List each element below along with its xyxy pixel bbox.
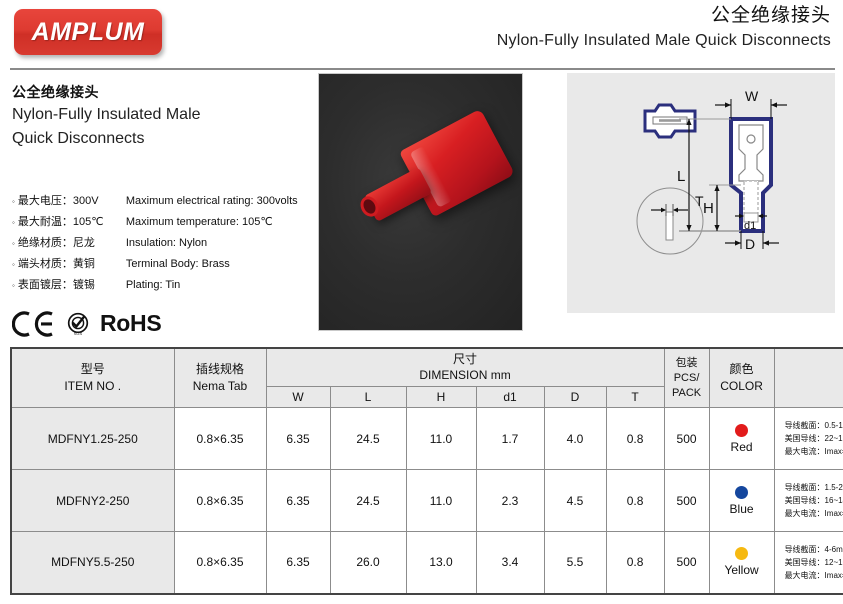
col-header-item-no-cn: 型号 [14, 361, 172, 378]
ul-certification-icon: SGS [65, 311, 91, 337]
explanation-chinese: 导线截面：1.5-2.5mm² 美国导线：16~14 最大电流：Imax=15A [785, 481, 843, 521]
col-header-color: 颜色 COLOR [709, 348, 774, 408]
table-row[interactable]: MDFNY2-250 0.8×6.35 6.35 24.5 11.0 2.3 4… [11, 470, 843, 532]
cell-w: 6.35 [266, 532, 330, 594]
cell-item-no: MDFNY2-250 [11, 470, 174, 532]
cell-d: 4.5 [544, 470, 606, 532]
col-header-nema-tab: 插线规格 Nema Tab [174, 348, 266, 408]
spec-label-english: Insulation: Nylon [126, 233, 207, 254]
header-title-group: 公全绝缘接头 Nylon-Fully Insulated Male Quick … [497, 4, 831, 52]
photo-background [319, 74, 522, 330]
col-header-pack-en2: PACK [667, 386, 707, 401]
col-header-explanation-cn: 说明 [777, 361, 843, 378]
product-title-chinese: 公全绝缘接头 [12, 82, 312, 102]
cell-l: 24.5 [330, 408, 406, 470]
col-header-d1: d1 [476, 387, 544, 408]
color-name: Yellow [711, 563, 773, 577]
cell-item-no: MDFNY5.5-250 [11, 532, 174, 594]
explanation-wire-range-cn: 导线截面：1.5-2.5mm² [785, 481, 843, 494]
dim-label-h: H [703, 200, 714, 217]
product-spec-panel: 公全绝缘接头 Nylon-Fully Insulated Male Quick … [12, 82, 312, 338]
table-header-row-1: 型号 ITEM NO . 插线规格 Nema Tab 尺寸 DIMENSION … [11, 348, 843, 387]
cell-d1: 2.3 [476, 470, 544, 532]
front-view-tab [645, 105, 695, 137]
col-header-color-cn: 颜色 [712, 361, 772, 378]
product-title-english-line2: Quick Disconnects [12, 128, 312, 150]
cell-color: Yellow [709, 532, 774, 594]
explanation-awg-cn: 美国导线：16~14 [785, 494, 843, 507]
explanation-chinese: 导线截面：0.5-1.5mm² 美国导线：22~16 最大电流：Imax=10A [785, 419, 843, 459]
cell-pack: 500 [664, 408, 709, 470]
spec-label-chinese: 表面镀层：镀锡 [18, 275, 126, 296]
cell-explanation: 导线截面：1.5-2.5mm² 美国导线：16~14 最大电流：Imax=15A… [774, 470, 843, 532]
cell-h: 11.0 [406, 408, 476, 470]
cell-item-no: MDFNY1.25-250 [11, 408, 174, 470]
cell-nema-tab: 0.8×6.35 [174, 408, 266, 470]
cell-l: 24.5 [330, 470, 406, 532]
content-middle: 公全绝缘接头 Nylon-Fully Insulated Male Quick … [0, 70, 843, 342]
spec-label-english: Maximum electrical rating: 300volts [126, 191, 298, 212]
header-title-chinese: 公全绝缘接头 [497, 4, 831, 29]
cell-d: 4.0 [544, 408, 606, 470]
end-view-circle: T [637, 188, 704, 254]
cell-h: 13.0 [406, 532, 476, 594]
spec-label-chinese: 最大电压：300V [18, 191, 126, 212]
ce-mark-icon [12, 310, 56, 338]
brand-logo-text: AMPLUM [32, 18, 145, 47]
rohs-label: RoHS [100, 310, 161, 337]
col-header-dimension-group: 尺寸 DIMENSION mm [266, 348, 664, 387]
cell-color: Blue [709, 470, 774, 532]
col-header-w: W [266, 387, 330, 408]
color-name: Red [711, 440, 773, 454]
cell-t: 0.8 [606, 532, 664, 594]
spec-label-chinese: 绝缘材质：尼龙 [18, 233, 126, 254]
dim-label-l: L [677, 168, 685, 185]
col-header-pack: 包装 PCS/ PACK [664, 348, 709, 408]
certification-row: SGS RoHS [12, 310, 312, 338]
cell-t: 0.8 [606, 408, 664, 470]
header-title-english: Nylon-Fully Insulated Male Quick Disconn… [497, 30, 831, 52]
table-row[interactable]: MDFNY5.5-250 0.8×6.35 6.35 26.0 13.0 3.4… [11, 532, 843, 594]
cell-nema-tab: 0.8×6.35 [174, 532, 266, 594]
col-header-h: H [406, 387, 476, 408]
cell-color: Red [709, 408, 774, 470]
cell-w: 6.35 [266, 470, 330, 532]
spec-list: ◦ 最大电压：300V Maximum electrical rating: 3… [12, 191, 312, 295]
cell-t: 0.8 [606, 470, 664, 532]
color-swatch-icon [735, 486, 748, 499]
product-title-english-line1: Nylon-Fully Insulated Male [12, 104, 312, 126]
col-header-dimension-cn: 尺寸 [269, 352, 662, 368]
col-header-nema-cn: 插线规格 [177, 361, 264, 378]
cell-explanation: 导线截面：0.5-1.5mm² 美国导线：22~16 最大电流：Imax=10A… [774, 408, 843, 470]
page-header: AMPLUM 公全绝缘接头 Nylon-Fully Insulated Male… [0, 0, 843, 70]
spec-item-temperature: ◦ 最大耐温：105℃ Maximum temperature: 105℃ [12, 212, 312, 233]
cell-d1: 1.7 [476, 408, 544, 470]
explanation-chinese: 导线截面：4-6mm² 美国导线：12~10 最大电流：Imax=24A [785, 543, 843, 583]
cell-d: 5.5 [544, 532, 606, 594]
col-header-l: L [330, 387, 406, 408]
spec-item-plating: ◦ 表面镀层：镀锡 Plating: Tin [12, 275, 312, 296]
cell-l: 26.0 [330, 532, 406, 594]
spec-label-english: Plating: Tin [126, 275, 180, 296]
specification-table: 型号 ITEM NO . 插线规格 Nema Tab 尺寸 DIMENSION … [10, 347, 843, 595]
col-header-pack-en1: PCS/ [667, 371, 707, 386]
spec-label-english: Maximum temperature: 105℃ [126, 212, 273, 233]
spec-item-insulation: ◦ 绝缘材质：尼龙 Insulation: Nylon [12, 233, 312, 254]
dim-label-d: D [745, 236, 755, 252]
col-header-pack-cn: 包装 [667, 356, 707, 371]
spec-label-chinese: 端头材质：黄铜 [18, 254, 126, 275]
explanation-awg-cn: 美国导线：12~10 [785, 556, 843, 569]
col-header-nema-en: Nema Tab [177, 378, 264, 395]
cell-d1: 3.4 [476, 532, 544, 594]
explanation-awg-cn: 美国导线：22~16 [785, 432, 843, 445]
cell-h: 11.0 [406, 470, 476, 532]
bullet-icon: ◦ [12, 257, 15, 272]
col-header-d: D [544, 387, 606, 408]
svg-text:SGS: SGS [74, 331, 83, 336]
explanation-current-cn: 最大电流：Imax=24A [785, 569, 843, 582]
color-swatch-icon [735, 547, 748, 560]
technical-drawing-svg: T W [567, 73, 835, 313]
table-row[interactable]: MDFNY1.25-250 0.8×6.35 6.35 24.5 11.0 1.… [11, 408, 843, 470]
bullet-icon: ◦ [12, 236, 15, 251]
col-header-t: T [606, 387, 664, 408]
cell-w: 6.35 [266, 408, 330, 470]
bullet-icon: ◦ [12, 194, 15, 209]
col-header-explanation: 说明 EXPLANATION [774, 348, 843, 408]
explanation-wire-range-cn: 导线截面：0.5-1.5mm² [785, 419, 843, 432]
spec-label-english: Terminal Body: Brass [126, 254, 230, 275]
cell-pack: 500 [664, 532, 709, 594]
col-header-dimension-en: DIMENSION mm [269, 368, 662, 384]
color-name: Blue [711, 502, 773, 516]
dim-label-d1: d1 [744, 220, 756, 232]
product-photo [318, 73, 523, 331]
explanation-current-cn: 最大电流：Imax=15A [785, 507, 843, 520]
explanation-wire-range-cn: 导线截面：4-6mm² [785, 543, 843, 556]
color-swatch-icon [735, 424, 748, 437]
technical-drawing: T W [567, 73, 835, 313]
dim-label-w: W [745, 88, 759, 104]
bullet-icon: ◦ [12, 215, 15, 230]
cell-nema-tab: 0.8×6.35 [174, 470, 266, 532]
cell-explanation: 导线截面：4-6mm² 美国导线：12~10 最大电流：Imax=24A Wir… [774, 532, 843, 594]
bullet-icon: ◦ [12, 278, 15, 293]
explanation-current-cn: 最大电流：Imax=10A [785, 445, 843, 458]
spec-item-terminal-body: ◦ 端头材质：黄铜 Terminal Body: Brass [12, 254, 312, 275]
cell-pack: 500 [664, 470, 709, 532]
brand-logo[interactable]: AMPLUM [14, 9, 162, 55]
col-header-explanation-en: EXPLANATION [777, 378, 843, 395]
table-header: 型号 ITEM NO . 插线规格 Nema Tab 尺寸 DIMENSION … [11, 348, 843, 408]
col-header-item-no: 型号 ITEM NO . [11, 348, 174, 408]
specification-table-wrapper: 型号 ITEM NO . 插线规格 Nema Tab 尺寸 DIMENSION … [10, 347, 833, 595]
spec-label-chinese: 最大耐温：105℃ [18, 212, 126, 233]
col-header-color-en: COLOR [712, 378, 772, 395]
col-header-item-no-en: ITEM NO . [14, 378, 172, 395]
spec-item-voltage: ◦ 最大电压：300V Maximum electrical rating: 3… [12, 191, 312, 212]
table-body: MDFNY1.25-250 0.8×6.35 6.35 24.5 11.0 1.… [11, 408, 843, 594]
